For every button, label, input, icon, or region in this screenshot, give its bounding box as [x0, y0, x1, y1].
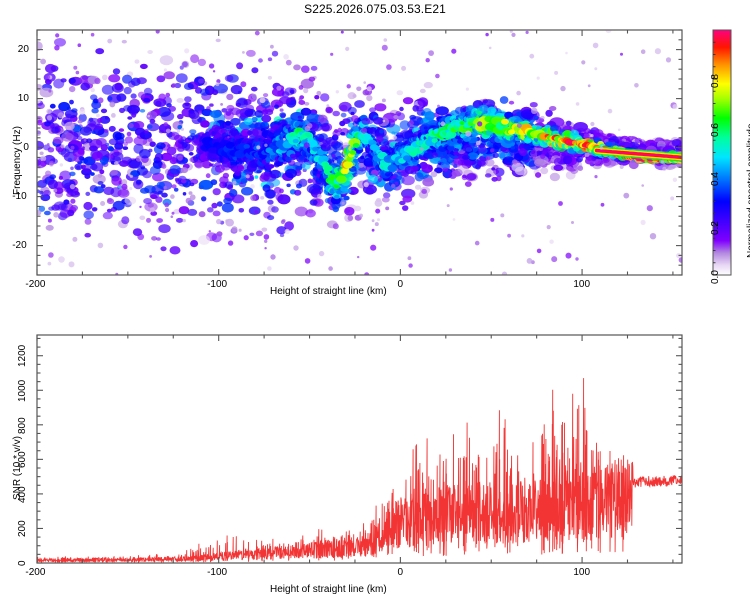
page-title: S225.2026.075.03.53.E21: [0, 2, 750, 16]
snr-ytick-label: 0: [17, 560, 28, 566]
spectrogram-xtick-label: 100: [573, 279, 590, 290]
snr-xtick-label: 0: [397, 567, 403, 578]
spectrogram-canvas: [0, 18, 710, 293]
snr-xtick-label: -200: [25, 567, 45, 578]
colorbar-label: Normalized spectral amplitude: [746, 123, 750, 258]
colorbar-canvas: [700, 18, 750, 293]
colorbar-tick-label: 0.2: [710, 221, 721, 235]
spectrogram-xtick-label: -200: [25, 279, 45, 290]
colorbar-tick-label: 0.6: [710, 123, 721, 137]
colorbar-tick-label: 0.8: [710, 74, 721, 88]
snr-panel: [0, 325, 710, 575]
spectrogram-ytick-label: 0: [23, 142, 29, 153]
snr-xtick-label: 100: [573, 567, 590, 578]
snr-canvas: [0, 325, 710, 575]
colorbar-panel: [700, 18, 750, 293]
spectrogram-xtick-label: 0: [397, 279, 403, 290]
colorbar-tick-label: 0.0: [710, 270, 721, 284]
spectrogram-ytick-label: 10: [18, 93, 29, 104]
snr-xtick-label: -100: [207, 567, 227, 578]
snr-ytick-label: 1000: [17, 380, 28, 402]
spectrogram-panel: [0, 18, 710, 293]
spectrogram-xlabel: Height of straight line (km): [270, 286, 387, 297]
spectrogram-ytick-label: 20: [18, 44, 29, 55]
snr-ytick-label: 400: [17, 486, 28, 503]
snr-ytick-label: 200: [17, 520, 28, 537]
snr-ytick-label: 1200: [17, 345, 28, 367]
spectrogram-ytick-label: -10: [12, 191, 26, 202]
spectrogram-ylabel: Frequency (Hz): [12, 126, 23, 195]
snr-ytick-label: 800: [17, 417, 28, 434]
spectrogram-ytick-label: -20: [12, 240, 26, 251]
spectrogram-xtick-label: -100: [207, 279, 227, 290]
snr-xlabel: Height of straight line (km): [270, 584, 387, 595]
colorbar-tick-label: 0.4: [710, 172, 721, 186]
snr-ytick-label: 600: [17, 451, 28, 468]
figure-root: S225.2026.075.03.53.E21 Height of straig…: [0, 0, 750, 600]
